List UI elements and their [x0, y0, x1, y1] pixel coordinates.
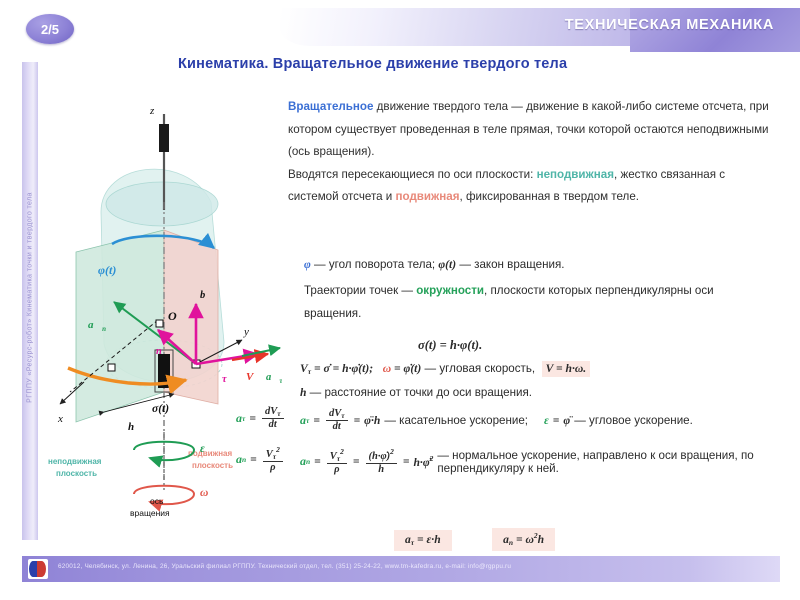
side-formula-at: aτ = dVτ dt — [236, 406, 286, 430]
epsilon-symbol: ε — [544, 414, 549, 427]
paragraph-definition: Вращательное движение твердого тела — дв… — [288, 96, 774, 164]
velocity-boxed-formula: V = h·ω. — [542, 361, 591, 377]
omega-definition: = φ̇(t) — [391, 362, 421, 375]
axis-bearing-top — [159, 124, 169, 152]
formula-sigma: σ(t) = h·φ(t). — [418, 338, 482, 353]
a-n-subscript: n — [306, 457, 310, 466]
side-a-n-fraction: Vτ2 ρ — [263, 446, 283, 473]
h-description: — расстояние от точки до оси вращения. — [306, 386, 532, 399]
a-n-description: — нормальное ускорение, направлено к оси… — [437, 449, 774, 475]
eq-4: = — [314, 455, 321, 468]
phi-symbol: φ — [304, 258, 311, 271]
at-vector-label: a⃗τ — [266, 372, 282, 385]
omega-symbol: ω — [383, 362, 391, 375]
eq-2: = — [354, 414, 361, 427]
boxed-results-row: aτ = ε·h an = ω2h — [394, 528, 555, 551]
a-tau-fraction: dVτ dt — [326, 408, 348, 432]
keyword-moving-plane: подвижная — [396, 190, 460, 203]
formula-h-line: h — расстояние от точки до оси вращения. — [300, 386, 774, 399]
formula-normal-acceleration: an = Vτ2 ρ = (h·φ̇)2 h = h·φ̇2 — нормаль… — [300, 448, 774, 475]
footer-contact-text: 620012, Челябинск, ул. Ленина, 26, Ураль… — [58, 563, 758, 570]
a-tau-denominator: dt — [326, 421, 348, 432]
a-n-result: h·φ̇2 — [413, 454, 433, 469]
a-n-num-2: (h·φ̇)2 — [366, 448, 397, 463]
phi-arc-label: φ(t) — [98, 263, 116, 277]
trajectories-a: Траектории точек — — [304, 284, 416, 297]
phi-desc-b: — закон вращения. — [456, 258, 564, 271]
z-axis-label: z — [149, 105, 155, 117]
origin-marker — [156, 320, 163, 327]
eq-3: = — [553, 414, 560, 427]
formula-velocity-line: Vτ = σ̇ = h·φ̇(t); ω = φ̇(t) — угловая с… — [300, 362, 774, 376]
a-tau-description: — касательное ускорение; — [384, 414, 528, 427]
v-vector-label: V⃗ — [246, 371, 262, 383]
a-tau-subscript: τ — [306, 416, 309, 425]
keyword-rotational: Вращательное — [288, 100, 373, 113]
logo-right-half — [37, 561, 46, 577]
axis-caption-l1: ось — [150, 496, 164, 506]
logo-left-half — [29, 561, 37, 577]
v-tau-body: = σ̇ = h·φ̇(t); — [311, 362, 373, 375]
a-tau-numerator: dVτ — [326, 408, 348, 421]
y-axis-label: y — [243, 326, 249, 338]
a-n-fraction-1: Vτ2 ρ — [327, 448, 347, 475]
epsilon-description: — угловое ускорение. — [574, 414, 693, 427]
eq-1: = — [313, 414, 320, 427]
course-title: ТЕХНИЧЕСКАЯ МЕХАНИКА — [565, 17, 774, 33]
boxed-formula-tangential: aτ = ε·h — [394, 530, 452, 551]
header-band: ТЕХНИЧЕСКАЯ МЕХАНИКА — [0, 0, 800, 52]
x-axis-label: x — [57, 413, 63, 425]
side-a-tau-subscript: τ — [242, 414, 245, 423]
a-tau-result: φ̈·h — [364, 414, 380, 427]
boxed-formula-normal: an = ω2h — [492, 528, 555, 551]
epsilon-symbol-label: ε — [200, 443, 205, 455]
side-a-n-num: Vτ2 — [263, 446, 283, 462]
keyword-fixed-plane: неподвижная — [537, 168, 614, 181]
paragraph-planes: Вводятся пересекающиеся по оси плоскости… — [288, 164, 774, 209]
epsilon-definition: φ̈ — [563, 414, 570, 427]
side-eq-2: = — [250, 453, 257, 466]
formula-phi-line: φ — угол поворота тела; φ(t) — закон вра… — [304, 258, 774, 271]
n-vector-label: n — [156, 346, 162, 357]
keyword-circles: окружности — [416, 284, 484, 297]
a-n-den-1: ρ — [327, 464, 347, 475]
point-marker-2 — [108, 364, 115, 371]
page-number-badge: 2/5 — [26, 14, 74, 44]
side-a-tau-den: dt — [262, 419, 284, 430]
a-n-fraction-2: (h·φ̇)2 h — [366, 448, 397, 475]
a-n-num-1: Vτ2 — [327, 448, 347, 464]
side-a-tau-fraction: dVτ dt — [262, 406, 284, 430]
body-text-column: Вращательное движение твердого тела — дв… — [288, 96, 774, 209]
paragraph-trajectories: Траектории точек — окружности, плоскости… — [304, 280, 754, 325]
eq-6: = — [403, 455, 410, 468]
side-a-tau-num: dVτ — [262, 406, 284, 419]
planes-text-a: Вводятся пересекающиеся по оси плоскости… — [288, 168, 537, 181]
footer-bottom-spacer — [0, 582, 800, 600]
phi-desc-a: — угол поворота тела; — [311, 258, 439, 271]
sigma-arc-label: σ(t) — [152, 403, 169, 415]
slide-root: ТЕХНИЧЕСКАЯ МЕХАНИКА 2/5 РГППУ «Ресурс-р… — [0, 0, 800, 600]
omega-description: — угловая скорость, — [421, 362, 535, 375]
b-vector-label: b — [200, 290, 205, 301]
rail-vertical-text: РГППУ «Ресурс-робот» Кинематика точки и … — [27, 58, 34, 538]
phi-of-t: φ(t) — [438, 258, 456, 271]
v-tau-symbol: V — [300, 362, 308, 375]
left-vertical-rail: РГППУ «Ресурс-робот» Кинематика точки и … — [22, 62, 38, 540]
origin-label: O — [168, 309, 177, 323]
formula-tangential-acceleration: aτ = dVτ dt = φ̈·h — касательное ускорен… — [300, 408, 774, 432]
tau-vector-label: τ — [222, 374, 227, 385]
side-a-n-den: ρ — [263, 462, 283, 473]
a-n-den-2: h — [366, 464, 397, 475]
organization-logo — [28, 559, 48, 579]
side-a-n-subscript: n — [242, 455, 246, 464]
eq-5: = — [353, 455, 360, 468]
slide-title: Кинематика. Вращательное движение твердо… — [178, 56, 698, 72]
planes-text-c: , фиксированная в твердом теле. — [460, 190, 640, 203]
axis-caption-l2: вращения — [130, 508, 170, 518]
side-formula-an: an = Vτ2 ρ — [236, 446, 285, 473]
side-eq-1: = — [249, 412, 256, 425]
